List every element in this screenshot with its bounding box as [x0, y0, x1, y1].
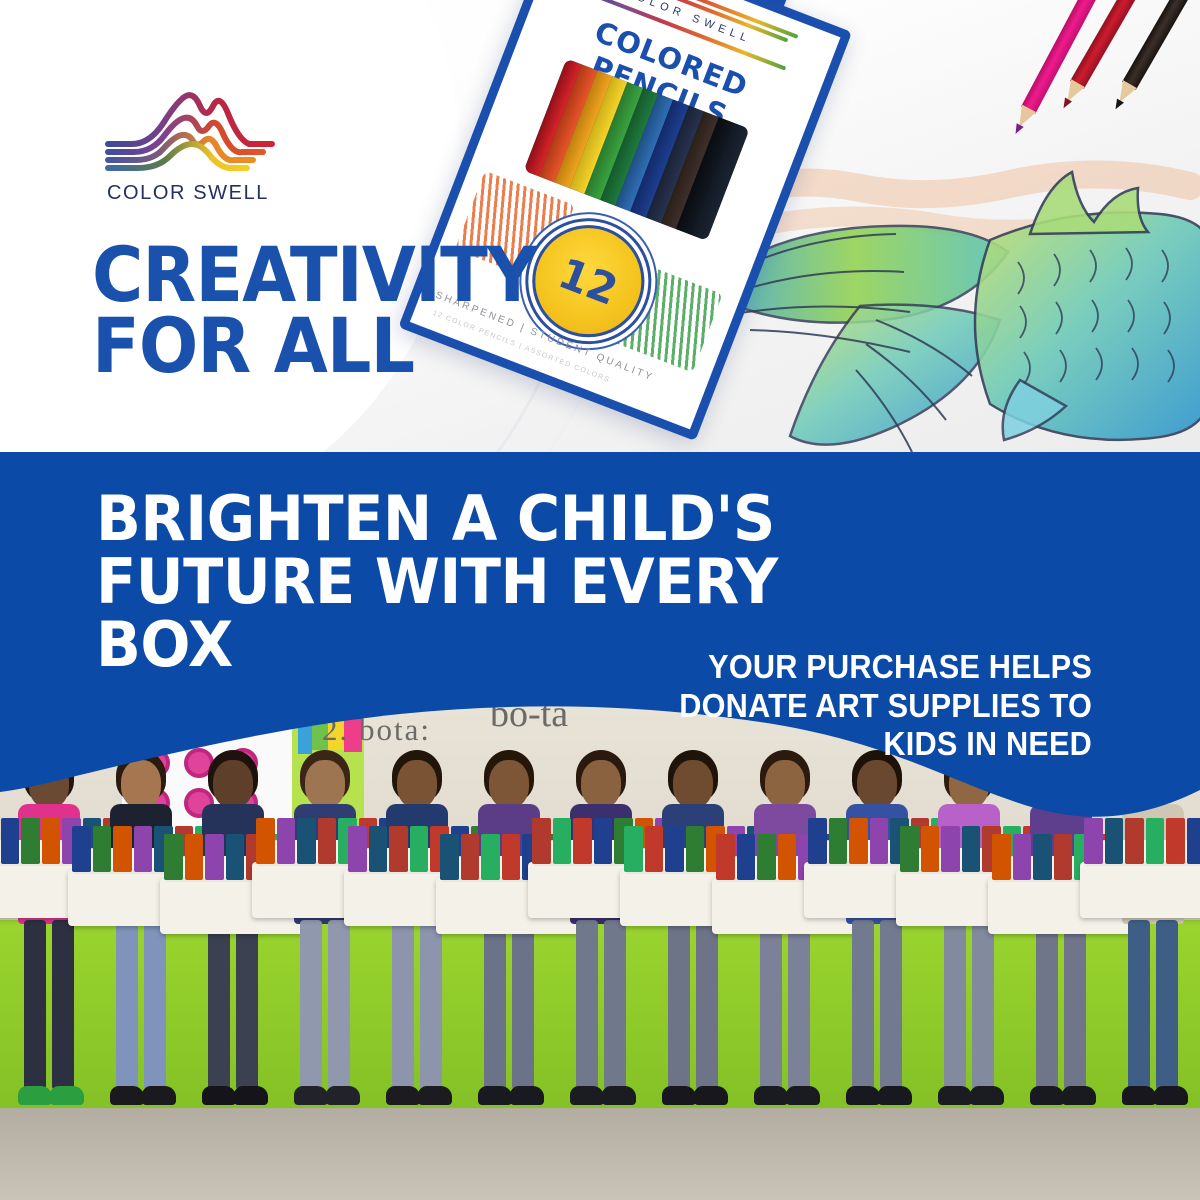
child-legs: [208, 920, 230, 1090]
hero-headline-line2: FOR ALL: [92, 311, 681, 382]
child-2: [98, 742, 184, 1142]
child-head: [857, 760, 897, 808]
child-shoe: [662, 1086, 696, 1105]
mission-sub-line2: DONATE ART SUPPLIES TO: [571, 687, 1092, 726]
child-shoe: [326, 1086, 360, 1105]
child-legs: [1064, 920, 1086, 1090]
child-shoe: [1122, 1086, 1156, 1105]
child-shoe: [50, 1086, 84, 1105]
child-legs: [852, 920, 874, 1090]
child-head: [121, 760, 161, 808]
child-legs: [420, 920, 442, 1090]
child-shoe: [202, 1086, 236, 1105]
pencil-black: [1122, 0, 1200, 90]
child-legs: [236, 920, 258, 1090]
child-shoe: [110, 1086, 144, 1105]
child-head: [673, 760, 713, 808]
child-3: [190, 742, 276, 1142]
child-shoe: [510, 1086, 544, 1105]
mission-headline-line1: BRIGHTEN A CHILD'S: [96, 482, 775, 555]
child-4: [282, 742, 368, 1142]
child-head: [489, 760, 529, 808]
child-8: [650, 742, 736, 1142]
child-shoe: [846, 1086, 880, 1105]
child-shoe: [694, 1086, 728, 1105]
child-legs: [788, 920, 810, 1090]
child-legs: [1128, 920, 1150, 1090]
child-shoe: [602, 1086, 636, 1105]
child-5: [374, 742, 460, 1142]
school-supplies: [1084, 818, 1200, 864]
mission-sub-line1: YOUR PURCHASE HELPS: [571, 648, 1092, 687]
child-legs: [604, 920, 626, 1090]
child-head: [765, 760, 805, 808]
child-legs: [1036, 920, 1058, 1090]
child-shoe: [938, 1086, 972, 1105]
child-shoe: [754, 1086, 788, 1105]
child-shoe: [1062, 1086, 1096, 1105]
child-legs: [1156, 920, 1178, 1090]
child-legs: [696, 920, 718, 1090]
child-13: [1110, 742, 1196, 1142]
child-shoe: [570, 1086, 604, 1105]
hero-section: COLOR SWELL COLORED PENCILS: [0, 0, 1200, 452]
child-head: [1133, 760, 1173, 808]
child-10: [834, 742, 920, 1142]
child-shoe: [478, 1086, 512, 1105]
child-shoe: [970, 1086, 1004, 1105]
child-legs: [760, 920, 782, 1090]
child-shoe: [1154, 1086, 1188, 1105]
hero-headline: CREATIVITY FOR ALL: [92, 240, 681, 381]
logo-wordmark: COLOR SWELL: [98, 182, 278, 205]
child-legs: [24, 920, 46, 1090]
child-shoe: [878, 1086, 912, 1105]
child-shoe: [142, 1086, 176, 1105]
child-shoe: [294, 1086, 328, 1105]
child-6: [466, 742, 552, 1142]
child-7: [558, 742, 644, 1142]
color-swell-logo: COLOR SWELL: [98, 84, 278, 219]
child-1: [6, 742, 92, 1142]
child-shoe: [786, 1086, 820, 1105]
child-head: [29, 760, 69, 808]
child-legs: [576, 920, 598, 1090]
child-legs: [668, 920, 690, 1090]
child-legs: [392, 920, 414, 1090]
child-legs: [484, 920, 506, 1090]
classroom-photo: 2. bota: bo-ta: [0, 690, 1200, 1200]
mission-subheadline: YOUR PURCHASE HELPS DONATE ART SUPPLIES …: [571, 648, 1092, 764]
child-legs: [116, 920, 138, 1090]
child-head: [305, 760, 345, 808]
child-legs: [880, 920, 902, 1090]
child-legs: [300, 920, 322, 1090]
child-legs: [328, 920, 350, 1090]
child-11: [926, 742, 1012, 1142]
mission-sub-line3: KIDS IN NEED: [571, 725, 1092, 764]
whiteboard-text-line2: bo-ta: [490, 692, 568, 736]
child-head: [581, 760, 621, 808]
supply-box: [1080, 862, 1200, 918]
poster-canvas: COLOR SWELL COLORED PENCILS: [0, 0, 1200, 1200]
child-legs: [944, 920, 966, 1090]
child-shoe: [418, 1086, 452, 1105]
child-legs: [512, 920, 534, 1090]
child-legs: [52, 920, 74, 1090]
child-9: [742, 742, 828, 1142]
child-head: [949, 760, 989, 808]
child-legs: [972, 920, 994, 1090]
child-head: [1041, 760, 1081, 808]
child-shoe: [234, 1086, 268, 1105]
swell-waves-icon: [98, 84, 278, 180]
child-shoe: [386, 1086, 420, 1105]
child-shoe: [18, 1086, 52, 1105]
child-shoe: [1030, 1086, 1064, 1105]
child-head: [397, 760, 437, 808]
child-head: [213, 760, 253, 808]
child-12: [1018, 742, 1104, 1142]
child-legs: [144, 920, 166, 1090]
